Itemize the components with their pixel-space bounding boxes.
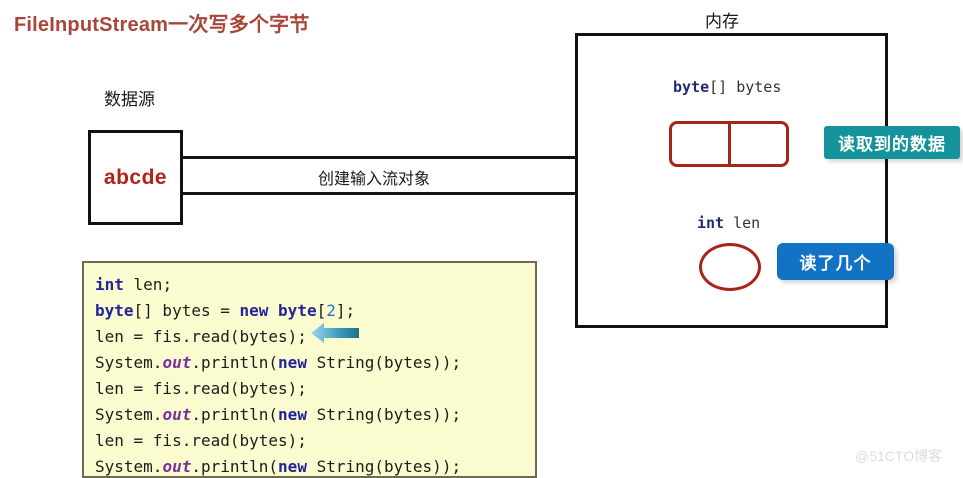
code-line: byte[] bytes = new byte[2]; [95, 298, 535, 324]
code-token: [ [317, 301, 327, 320]
byte-array-cell [728, 124, 787, 164]
code-token: String(bytes)); [307, 353, 461, 372]
code-token: new [278, 457, 307, 476]
code-token: [] bytes = [134, 301, 240, 320]
code-block: int len;byte[] bytes = new byte[2];len =… [82, 261, 537, 478]
code-token: len; [124, 275, 172, 294]
code-token: .println( [191, 457, 278, 476]
code-token: ]; [336, 301, 355, 320]
code-token: len = fis.read(bytes); [95, 431, 307, 450]
byte-identifier: [] bytes [709, 78, 781, 96]
byte-keyword: byte [673, 78, 709, 96]
slide-canvas: FileInputStream一次写多个字节 数据源 abcde 创建输入流对象… [0, 0, 963, 478]
data-source-label: 数据源 [104, 85, 155, 110]
code-token: out [162, 405, 191, 424]
pipe-line-bottom [183, 192, 578, 195]
code-token: String(bytes)); [307, 405, 461, 424]
memory-label: 内存 [705, 7, 739, 32]
len-value-oval [699, 243, 761, 291]
data-source-content: abcde [91, 133, 180, 222]
code-token: new [240, 301, 269, 320]
code-line: len = fis.read(bytes); [95, 376, 535, 402]
code-token: System. [95, 457, 162, 476]
int-len-declaration: int len [697, 214, 760, 232]
code-token: int [95, 275, 124, 294]
badge-read-count: 读了几个 [777, 243, 894, 280]
code-token: new [278, 353, 307, 372]
byte-array-cells [669, 121, 789, 167]
code-token: new [278, 405, 307, 424]
byte-array-declaration: byte[] bytes [673, 78, 781, 96]
code-line: System.out.println(new String(bytes)); [95, 350, 535, 376]
data-source-box: abcde [88, 130, 183, 225]
code-token: out [162, 457, 191, 476]
code-token: System. [95, 405, 162, 424]
code-token: len = fis.read(bytes); [95, 379, 307, 398]
code-token: byte [95, 301, 134, 320]
code-token: byte [278, 301, 317, 320]
code-token: .println( [191, 405, 278, 424]
code-line: System.out.println(new String(bytes)); [95, 454, 535, 478]
badge-read-data: 读取到的数据 [824, 126, 960, 159]
byte-array-cell [672, 124, 728, 164]
len-identifier: len [724, 214, 760, 232]
code-token: len = fis.read(bytes); [95, 327, 307, 346]
code-line: int len; [95, 272, 535, 298]
watermark: @51CTO博客 [855, 446, 942, 466]
code-line: System.out.println(new String(bytes)); [95, 402, 535, 428]
code-token: System. [95, 353, 162, 372]
code-line: len = fis.read(bytes); [95, 428, 535, 454]
code-token [268, 301, 278, 320]
page-title: FileInputStream一次写多个字节 [14, 8, 310, 37]
left-arrow-icon [311, 322, 359, 344]
code-token: .println( [191, 353, 278, 372]
stream-pipe: 创建输入流对象 [183, 156, 578, 195]
int-keyword: int [697, 214, 724, 232]
pipe-label: 创建输入流对象 [318, 165, 430, 189]
pipe-line-top [183, 156, 578, 159]
code-token: out [162, 353, 191, 372]
code-token: String(bytes)); [307, 457, 461, 476]
code-token: 2 [326, 301, 336, 320]
